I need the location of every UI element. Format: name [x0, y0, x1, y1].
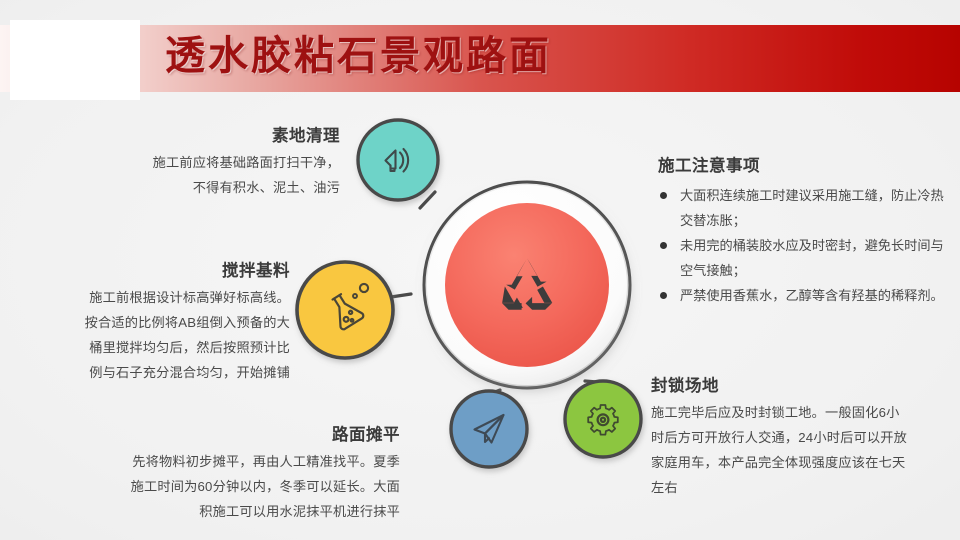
block-line: 例与石子充分混合均匀，开始摊铺 [18, 360, 290, 385]
bullet-dot-icon [660, 192, 667, 199]
block-line: 施工前应将基础路面打扫干净， [108, 150, 340, 175]
connector-to-megaphone [420, 192, 435, 208]
connector-to-gear [585, 381, 597, 382]
block-su-di-qing-li: 素地清理 施工前应将基础路面打扫干净， 不得有积水、泥土、油污 [108, 122, 340, 200]
megaphone-icon [386, 149, 409, 172]
block-line: 桶里搅拌均匀后，然后按照预计比 [18, 335, 290, 360]
block-line: 施工前根据设计标高弹好标高线。 [18, 285, 290, 310]
block-line: 按合适的比例将AB组倒入预备的大 [18, 310, 290, 335]
hub-outer-outline [424, 182, 630, 388]
block-line: 左右 [651, 475, 951, 500]
flask-bubble-small [353, 294, 357, 298]
block-feng-suo-chang-di: 封锁场地 施工完毕后应及时封锁工地。一般固化6小 时后方可开放行人交通，24小时… [651, 372, 951, 500]
node-su-di-qing-li[interactable] [358, 120, 438, 200]
node-lu-mian-tan-ping[interactable] [451, 391, 527, 467]
flask-bubble-large [360, 284, 368, 292]
node-jiao-ban-ji-liao[interactable] [297, 262, 393, 358]
block-line: 积施工可以用水泥抹平机进行抹平 [62, 499, 400, 524]
gear-icon [588, 405, 618, 435]
flask-icon [326, 290, 365, 330]
list-item: 严禁使用香蕉水，乙醇等含有羟基的稀释剂。 [658, 283, 950, 308]
block-jiao-ban-ji-liao: 搅拌基料 施工前根据设计标高弹好标高线。 按合适的比例将AB组倒入预备的大 桶里… [18, 257, 290, 385]
block-line: 时后方可开放行人交通，24小时后可以开放 [651, 425, 951, 450]
list-item: 大面积连续施工时建议采用施工缝，防止冷热交替冻胀； [658, 183, 950, 233]
connector-lines [391, 192, 597, 392]
node-feng-suo-chang-di[interactable] [565, 381, 641, 457]
node-circle-gear[interactable] [565, 381, 641, 457]
block-title-shi-gong-zhu-yi: 施工注意事项 [658, 152, 950, 176]
node-circle-paper-plane[interactable] [451, 391, 527, 467]
banner-white-block [10, 20, 140, 100]
block-title-feng-suo-chang-di: 封锁场地 [651, 372, 951, 396]
connector-to-plane [495, 390, 500, 392]
recycle-icon [502, 258, 552, 309]
notes-bullet-list: 大面积连续施工时建议采用施工缝，防止冷热交替冻胀； 未用完的桶装胶水应及时密封，… [658, 183, 950, 308]
node-circle-megaphone[interactable] [358, 120, 438, 200]
block-line: 先将物料初步摊平，再由人工精准找平。夏季 [62, 449, 400, 474]
block-line: 不得有积水、泥土、油污 [108, 175, 340, 200]
block-title-su-di-qing-li: 素地清理 [108, 122, 340, 146]
block-line: 施工完毕后应及时封锁工地。一般固化6小 [651, 400, 951, 425]
connector-to-flask [391, 294, 411, 297]
block-lu-mian-tan-ping: 路面摊平 先将物料初步摊平，再由人工精准找平。夏季 施工时间为60分钟以内，冬季… [62, 421, 400, 524]
block-shi-gong-zhu-yi: 施工注意事项 大面积连续施工时建议采用施工缝，防止冷热交替冻胀； 未用完的桶装胶… [658, 152, 950, 308]
list-item: 未用完的桶装胶水应及时密封，避免长时间与空气接触； [658, 233, 950, 283]
node-circle-flask[interactable] [297, 262, 393, 358]
bullet-dot-icon [660, 292, 667, 299]
hub-ring [427, 185, 627, 385]
block-title-jiao-ban-ji-liao: 搅拌基料 [18, 257, 290, 281]
block-title-lu-mian-tan-ping: 路面摊平 [62, 421, 400, 445]
block-line: 施工时间为60分钟以内，冬季可以延长。大面 [62, 474, 400, 499]
bullet-dot-icon [660, 242, 667, 249]
paper-plane-icon [475, 415, 504, 443]
block-line: 家庭用车，本产品完全体现强度应该在七天 [651, 450, 951, 475]
list-item-text: 大面积连续施工时建议采用施工缝，防止冷热交替冻胀； [680, 188, 944, 228]
slide-canvas: 透水胶粘石景观路面 [0, 0, 960, 540]
hub-inner-circle [445, 203, 609, 367]
list-item-text: 未用完的桶装胶水应及时密封，避免长时间与空气接触； [680, 238, 944, 278]
page-title: 透水胶粘石景观路面 [165, 27, 552, 85]
list-item-text: 严禁使用香蕉水，乙醇等含有羟基的稀释剂。 [680, 288, 944, 303]
